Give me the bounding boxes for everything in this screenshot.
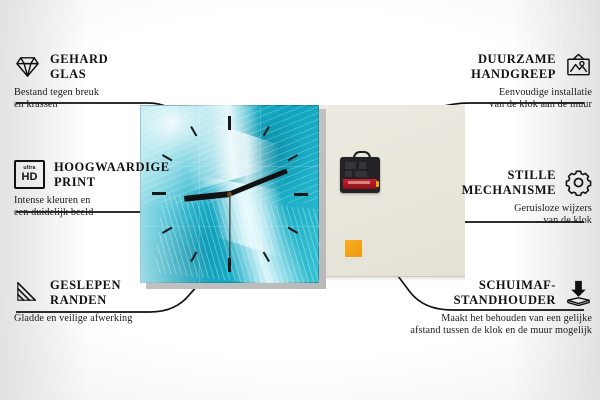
ultra-hd-icon: ultra HD xyxy=(14,160,45,189)
feature-title-line1: GEHARD xyxy=(50,52,108,67)
feature-desc-line1: Bestand tegen breuk xyxy=(14,87,219,99)
feature-hd-print: ultra HD HOOGWAARDIGE PRINT Intense kleu… xyxy=(14,160,219,220)
feature-desc-line1: Gladde en veilige afwerking xyxy=(14,313,219,325)
picture-frame-hanger-icon xyxy=(565,53,592,80)
feature-foam-spacer: SCHUIMAF- STANDHOUDER Maakt het behouden… xyxy=(380,278,592,338)
battery xyxy=(343,179,377,189)
feature-title-line2: PRINT xyxy=(54,175,170,190)
foam-spacer-icon xyxy=(565,279,592,306)
feature-desc-line2: en krassen xyxy=(14,99,219,111)
feature-desc-line1: Eenvoudige installatie xyxy=(380,87,592,99)
polished-edges-icon xyxy=(14,279,41,306)
gear-icon xyxy=(565,169,592,196)
center-pin xyxy=(227,192,232,197)
feature-durable-hanger: DUURZAME HANDGREEP Eenvoudige installati… xyxy=(380,52,592,112)
infographic-canvas: GEHARD GLAS Bestand tegen breuk en krass… xyxy=(0,0,600,400)
feature-desc-line1: Intense kleuren en xyxy=(14,195,219,207)
feature-title-line1: GESLEPEN xyxy=(50,278,121,293)
feature-desc-line2: van de klok xyxy=(380,215,592,227)
feature-desc-line2: afstand tussen de klok en de muur mogeli… xyxy=(380,325,592,337)
feature-title-line2: GLAS xyxy=(50,67,108,82)
feature-title-line1: SCHUIMAF- xyxy=(454,278,556,293)
feature-title-line1: HOOGWAARDIGE xyxy=(54,160,170,175)
feature-silent-mechanism: STILLE MECHANISME Geruisloze wijzers van… xyxy=(380,168,592,228)
movement-body xyxy=(340,157,380,193)
feature-desc-line2: van de klok aan de muur xyxy=(380,99,592,111)
ultra-hd-icon-large-text: HD xyxy=(22,172,38,183)
feature-desc-line1: Maakt het behouden van een gelijke xyxy=(380,313,592,325)
feature-tempered-glass: GEHARD GLAS Bestand tegen breuk en krass… xyxy=(14,52,219,112)
feature-desc-line1: Geruisloze wijzers xyxy=(380,203,592,215)
second-hand xyxy=(229,194,230,266)
feature-title-line2: RANDEN xyxy=(50,293,121,308)
foam-spacer xyxy=(345,240,362,257)
feature-title-line1: DUURZAME xyxy=(471,52,556,67)
feature-polished-edges: GESLEPEN RANDEN Gladde en veilige afwerk… xyxy=(14,278,219,325)
feature-title-line2: STANDHOUDER xyxy=(454,293,556,308)
feature-desc-line2: een duidelijk beeld xyxy=(14,207,219,219)
feature-title-line2: MECHANISME xyxy=(462,183,556,198)
clock-movement xyxy=(340,157,380,193)
feature-title-line2: HANDGREEP xyxy=(471,67,556,82)
feature-title-line1: STILLE xyxy=(462,168,556,183)
diamond-icon xyxy=(14,53,41,80)
